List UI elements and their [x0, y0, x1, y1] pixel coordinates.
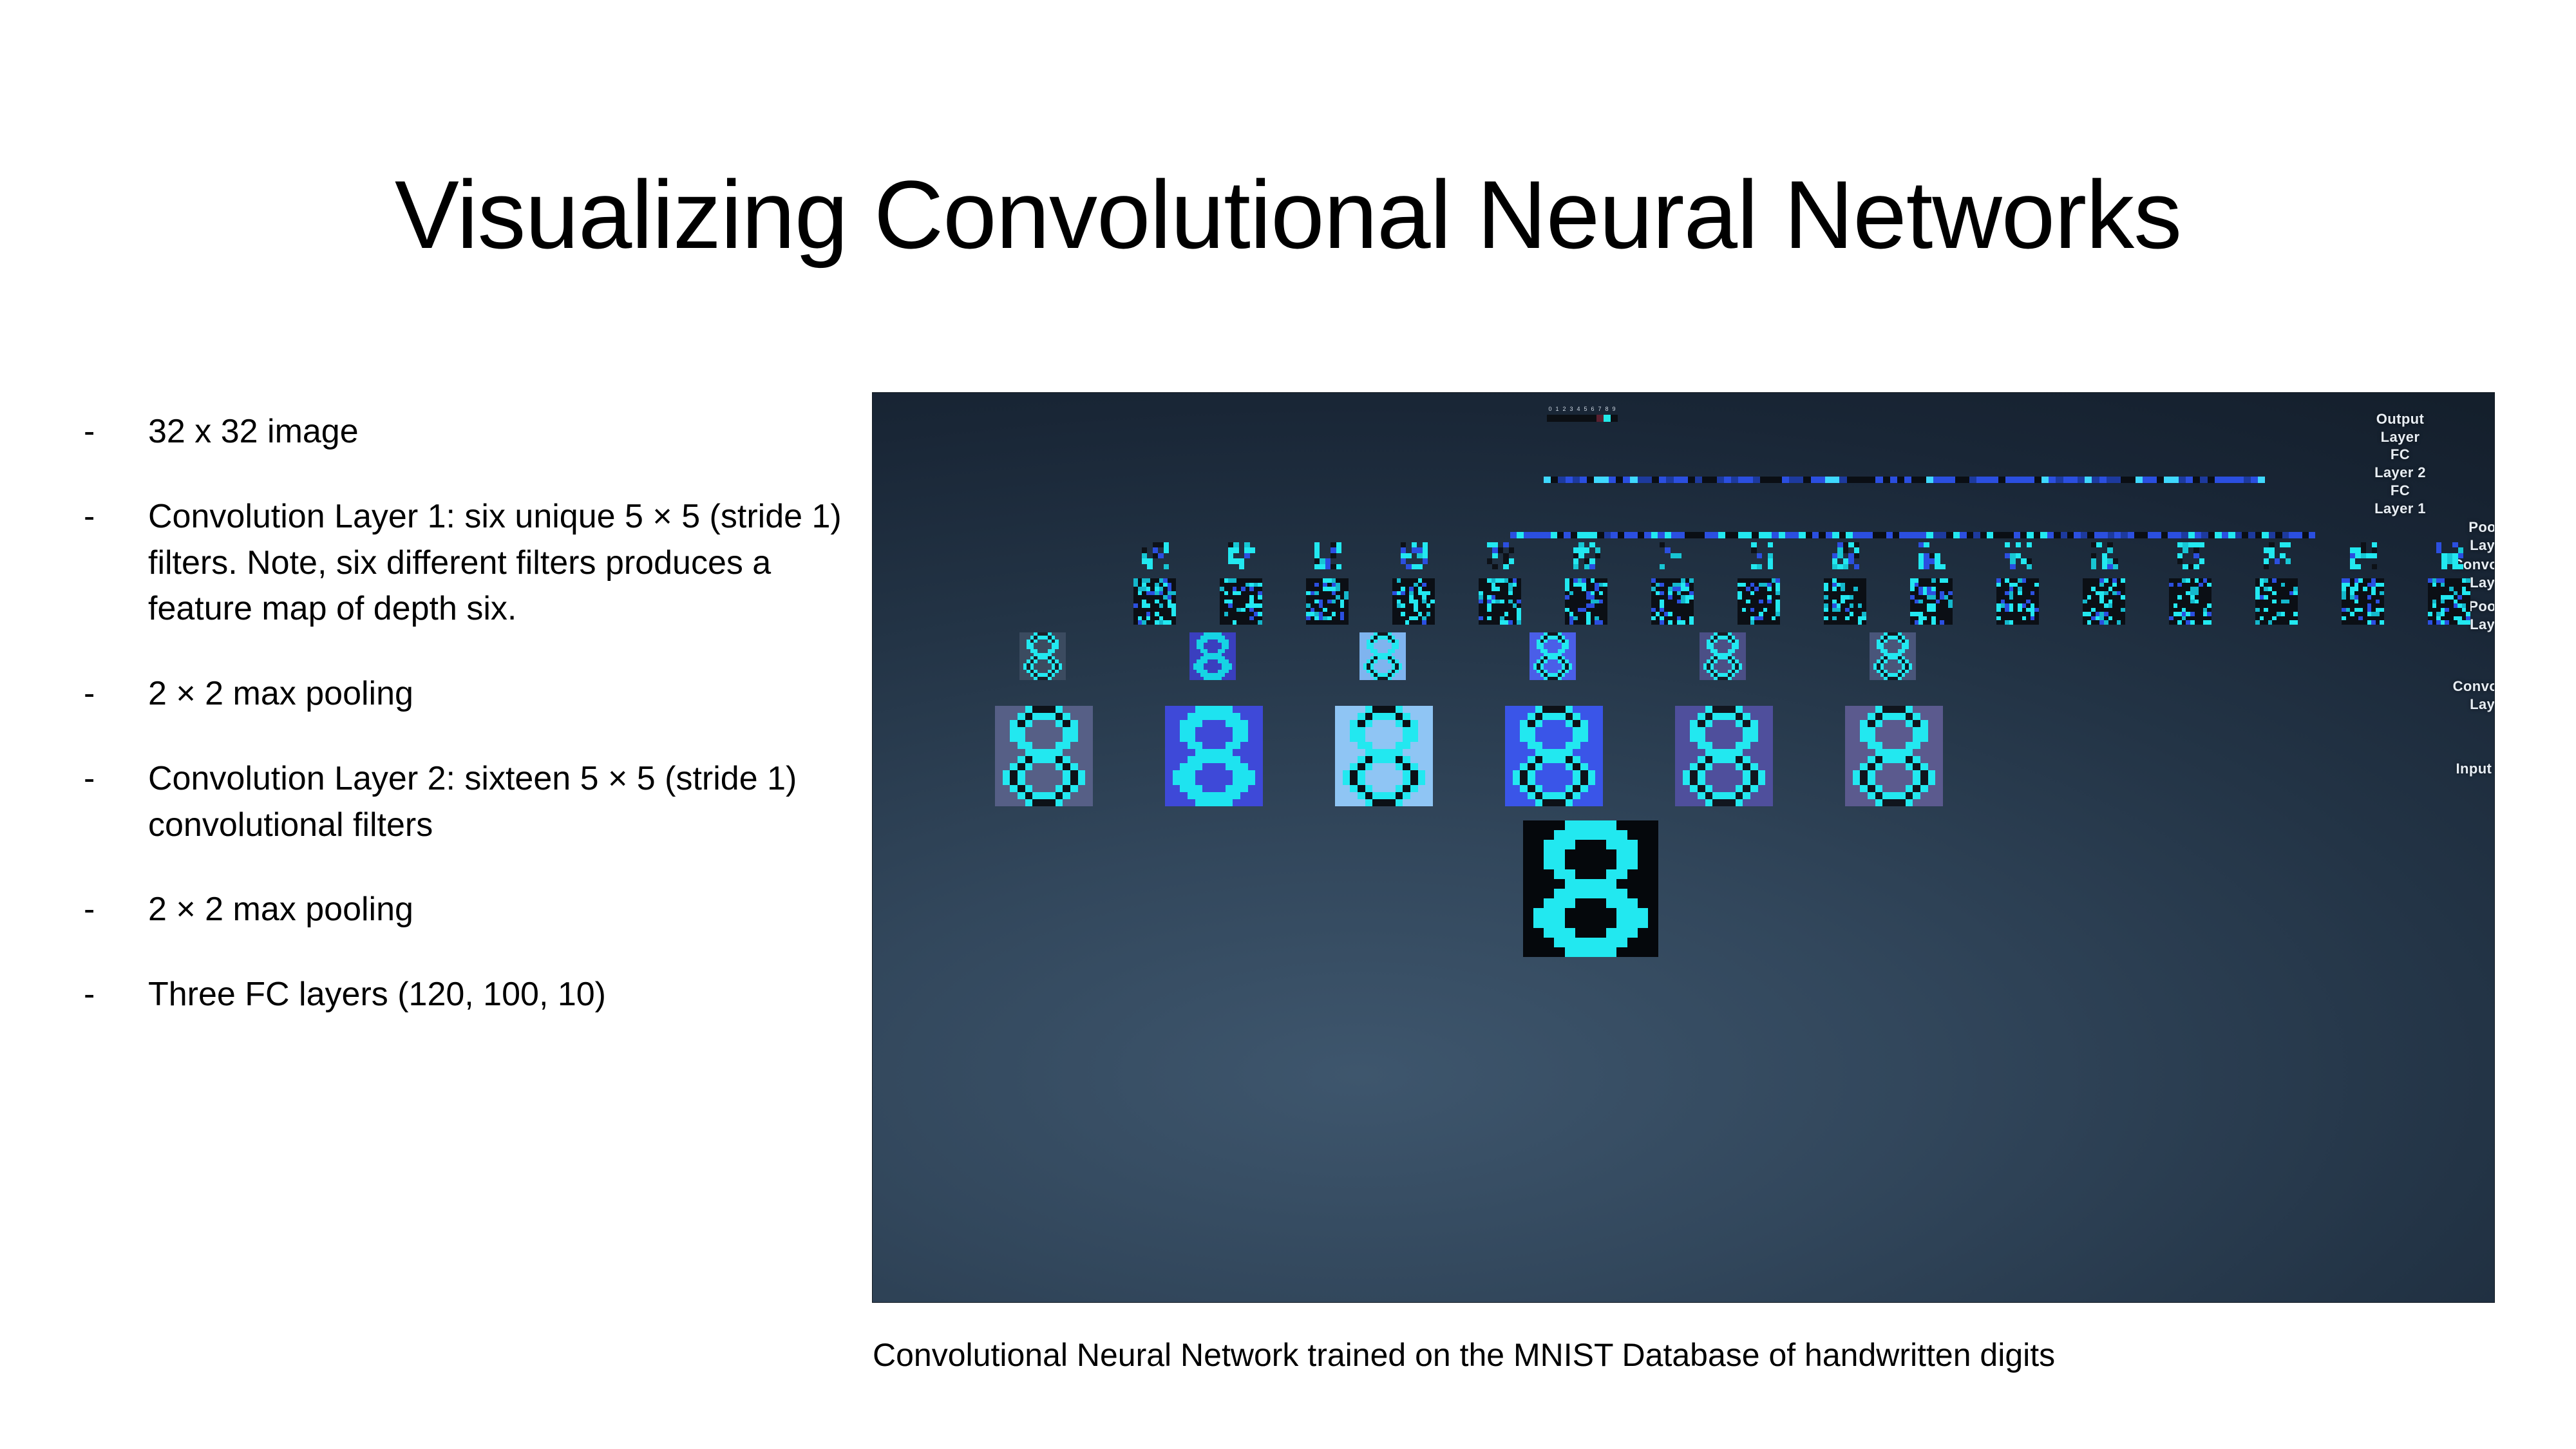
fc-cell	[2141, 532, 2148, 538]
output-cell	[1589, 415, 1596, 422]
convolution-layer-1-map	[1335, 706, 1433, 806]
fc-cell	[2201, 532, 2208, 538]
fc-cell	[2289, 532, 2295, 538]
fc-cell	[1811, 477, 1818, 483]
fc-cell	[2208, 532, 2215, 538]
bullet-text: 32 x 32 image	[148, 409, 844, 455]
layer-label-input-layer: Input Layer	[2444, 760, 2494, 778]
fc-cell	[1980, 532, 1987, 538]
fc-cell	[2302, 532, 2309, 538]
output-cell	[1604, 415, 1611, 422]
fc-cell	[1920, 532, 1926, 538]
pooling-layer-1-map	[1359, 632, 1406, 680]
fc-cell	[1879, 532, 1886, 538]
fc-cell	[1973, 532, 1980, 538]
fc-cell	[1987, 532, 1993, 538]
pooling-layer-2-map	[2005, 542, 2032, 569]
list-item: - Convolution Layer 1: six unique 5 × 5 …	[84, 494, 844, 632]
fc-cell	[2251, 477, 2258, 483]
fc-cell	[1705, 532, 1711, 538]
fc-cell	[1919, 477, 1926, 483]
fc-cell	[1806, 532, 1812, 538]
fc-cell	[1826, 532, 1832, 538]
fc-cell	[1544, 477, 1551, 483]
output-cell	[1611, 415, 1618, 422]
pooling-layer-2-map	[1746, 542, 1773, 569]
output-digit-8: 8	[1604, 406, 1611, 412]
pooling-layer-2-map	[2264, 542, 2291, 569]
fc-cell	[2047, 532, 2054, 538]
fc-cell	[1725, 532, 1732, 538]
fc-cell	[2078, 477, 2085, 483]
fc-cell	[1767, 477, 1774, 483]
fc-cell	[2101, 532, 2107, 538]
pooling-layer-2-map	[1832, 542, 1859, 569]
fc-cell	[2242, 532, 2248, 538]
fc-cell	[2295, 532, 2302, 538]
bullet-marker: -	[84, 671, 148, 717]
fc-cell	[1904, 477, 1911, 483]
fc-cell	[1854, 477, 1861, 483]
fc-cell	[2027, 532, 2033, 538]
layer-label-fc-layer-2: FC Layer 2	[2349, 446, 2452, 482]
fc-cell	[1604, 532, 1611, 538]
fc-cell	[1644, 532, 1651, 538]
fc-cell	[1558, 477, 1565, 483]
output-digit-3: 3	[1568, 406, 1575, 412]
pooling-layer-2-map	[2177, 542, 2204, 569]
list-item: - Convolution Layer 2: sixteen 5 × 5 (st…	[84, 756, 844, 849]
convolution-layer-2-map	[2169, 578, 2211, 625]
fc-cell	[1616, 477, 1623, 483]
convolution-layer-2-map	[1133, 578, 1176, 625]
fc-cell	[1897, 477, 1904, 483]
fc-cell	[1933, 477, 1940, 483]
input-layer-digit-image	[1523, 820, 1658, 957]
fc-cell	[2155, 532, 2161, 538]
fc-cell	[1875, 477, 1882, 483]
fc-cell	[2235, 532, 2242, 538]
fc-cell	[1685, 532, 1691, 538]
fc-cell	[1746, 477, 1753, 483]
fc-cell	[1624, 532, 1631, 538]
fc-cell	[1998, 477, 2005, 483]
fc-cell	[2107, 477, 2114, 483]
fc-cell	[1818, 477, 1825, 483]
fc-cell	[1859, 532, 1866, 538]
fc-cell	[2114, 477, 2121, 483]
fc-cell	[2181, 532, 2188, 538]
fc-cell	[1678, 532, 1685, 538]
fc-cell	[1544, 532, 1550, 538]
fc-cell	[2282, 532, 2289, 538]
fc-cell	[1681, 477, 1688, 483]
fc-cell	[2186, 477, 2193, 483]
fc-cell	[2041, 477, 2049, 483]
pooling-layer-1-map	[1529, 632, 1576, 680]
layer-label-fc-layer-1: FC Layer 1	[2349, 482, 2452, 518]
fc-cell	[1991, 477, 1998, 483]
fc-cell	[2248, 532, 2255, 538]
fc-cell	[1976, 477, 1984, 483]
output-digit-4: 4	[1575, 406, 1582, 412]
pooling-layer-2-map	[1660, 542, 1687, 569]
fc-cell	[2099, 477, 2107, 483]
fc-cell	[2193, 477, 2200, 483]
fc-layer-2-bar	[1544, 477, 2265, 483]
convolution-layer-2-map	[1220, 578, 1262, 625]
output-cell	[1568, 415, 1575, 422]
fc-cell	[1993, 532, 2000, 538]
fc-cell	[2179, 477, 2186, 483]
fc-cell	[2070, 477, 2078, 483]
convolution-layer-2-map	[1996, 578, 2039, 625]
output-cell	[1547, 415, 1554, 422]
fc-cell	[2148, 532, 2154, 538]
fc-cell	[1913, 532, 1919, 538]
fc-cell	[2275, 532, 2282, 538]
pooling-layer-2-map	[1918, 542, 1946, 569]
fc-cell	[1785, 532, 1792, 538]
fc-cell	[1792, 532, 1799, 538]
output-digit-2: 2	[1561, 406, 1568, 412]
fc-cell	[1796, 477, 1803, 483]
fc-cell	[1566, 477, 1573, 483]
bullet-marker: -	[84, 887, 148, 933]
fc-cell	[1765, 532, 1772, 538]
fc-cell	[2195, 532, 2201, 538]
fc-cell	[1940, 532, 1946, 538]
fc-cell	[2000, 532, 2007, 538]
fc-cell	[1571, 532, 1577, 538]
pooling-layer-1-map	[1700, 632, 1746, 680]
fc-cell	[1839, 532, 1846, 538]
fc-cell	[1698, 532, 1705, 538]
fc-cell	[1911, 477, 1918, 483]
bullet-text: Convolution Layer 2: sixteen 5 × 5 (stri…	[148, 756, 844, 849]
bullet-marker: -	[84, 972, 148, 1018]
fc-cell	[2244, 477, 2251, 483]
output-digit-5: 5	[1582, 406, 1589, 412]
fc-cell	[1866, 532, 1872, 538]
fc-cell	[2094, 532, 2101, 538]
fc-cell	[1665, 532, 1671, 538]
output-cell	[1561, 415, 1568, 422]
fc-cell	[1955, 477, 1962, 483]
convolution-layer-1-map	[995, 706, 1093, 806]
fc-cell	[1789, 477, 1796, 483]
fc-cell	[2128, 532, 2134, 538]
output-digit-6: 6	[1589, 406, 1596, 412]
convolution-layer-1-map	[1505, 706, 1603, 806]
fc-cell	[1597, 532, 1604, 538]
bullet-text: 2 × 2 max pooling	[148, 671, 844, 717]
fc-cell	[1953, 532, 1960, 538]
fc-cell	[2150, 477, 2157, 483]
fc-cell	[1659, 477, 1666, 483]
pooling-layer-1-map	[1019, 632, 1066, 680]
bullet-text: 2 × 2 max pooling	[148, 887, 844, 933]
fc-cell	[1631, 532, 1638, 538]
fc-cell	[2020, 532, 2027, 538]
fc-cell	[1611, 532, 1617, 538]
list-item: - 2 × 2 max pooling	[84, 671, 844, 717]
fc-cell	[1947, 477, 1955, 483]
fc-cell	[1524, 532, 1530, 538]
fc-cell	[1652, 477, 1659, 483]
fc-cell	[2121, 532, 2127, 538]
fc-cell	[2168, 532, 2174, 538]
fc-cell	[2188, 532, 2195, 538]
convolution-layer-1-map	[1675, 706, 1773, 806]
fc-cell	[1609, 477, 1616, 483]
fc-cell	[1782, 477, 1789, 483]
fc-cell	[2005, 477, 2012, 483]
convolution-layer-1-map	[1165, 706, 1263, 806]
fc-cell	[2081, 532, 2087, 538]
fc-cell	[1832, 477, 1839, 483]
fc-cell	[1745, 532, 1752, 538]
fc-cell	[1564, 532, 1570, 538]
fc-cell	[1752, 532, 1758, 538]
fc-cell	[1645, 477, 1652, 483]
fc-cell	[1551, 532, 1557, 538]
list-item: - 2 × 2 max pooling	[84, 887, 844, 933]
fc-cell	[1803, 477, 1810, 483]
fc-cell	[1651, 532, 1658, 538]
fc-cell	[1623, 477, 1630, 483]
fc-cell	[1846, 532, 1852, 538]
convolution-layer-2-map	[1392, 578, 1435, 625]
convolution-layer-2-map	[1565, 578, 1607, 625]
figure-caption: Convolutional Neural Network trained on …	[873, 1336, 2521, 1374]
fc-cell	[2014, 532, 2020, 538]
fc-cell	[1825, 477, 1832, 483]
fc-cell	[1899, 532, 1906, 538]
fc-cell	[1584, 532, 1591, 538]
fc-cell	[1738, 532, 1745, 538]
fc-cell	[1946, 532, 1953, 538]
fc-cell	[2157, 477, 2164, 483]
fc-cell	[1557, 532, 1564, 538]
fc-cell	[2222, 477, 2229, 483]
fc-cell	[1760, 477, 1767, 483]
output-cell	[1596, 415, 1604, 422]
convolution-layer-2-map	[2255, 578, 2298, 625]
fc-cell	[2208, 477, 2215, 483]
convolution-layer-2-map	[1479, 578, 1521, 625]
pooling-layer-2-map	[1142, 542, 1169, 569]
fc-cell	[2061, 532, 2067, 538]
output-cell	[1575, 415, 1582, 422]
bullet-marker: -	[84, 494, 148, 540]
bullet-marker: -	[84, 756, 148, 802]
fc-cell	[1853, 532, 1859, 538]
fc-cell	[1873, 532, 1879, 538]
fc-cell	[2136, 477, 2143, 483]
fc-cell	[1602, 477, 1609, 483]
fc-cell	[2085, 477, 2092, 483]
pooling-layer-2-map	[1228, 542, 1255, 569]
fc-cell	[1530, 532, 1537, 538]
fc-cell	[1591, 532, 1597, 538]
fc-cell	[1759, 532, 1765, 538]
convolution-layer-2-map	[1910, 578, 1953, 625]
fc-cell	[2172, 477, 2179, 483]
fc-cell	[1967, 532, 1973, 538]
fc-cell	[1718, 532, 1725, 538]
convolution-layer-2-map	[2083, 578, 2125, 625]
output-digit-1: 1	[1554, 406, 1561, 412]
fc-cell	[1710, 477, 1717, 483]
fc-cell	[2074, 532, 2080, 538]
fc-cell	[1695, 477, 1702, 483]
fc-cell	[1580, 477, 1587, 483]
fc-cell	[2143, 477, 2150, 483]
bullet-text: Three FC layers (120, 100, 10)	[148, 972, 844, 1018]
fc-cell	[2012, 477, 2020, 483]
pooling-layer-2-map	[2091, 542, 2118, 569]
fc-cell	[1537, 532, 1544, 538]
fc-cell	[1926, 532, 1933, 538]
fc-cell	[2309, 532, 2315, 538]
fc-cell	[1883, 477, 1890, 483]
convolution-layer-2-map	[1824, 578, 1866, 625]
fc-cell	[2034, 532, 2040, 538]
fc-cell	[1772, 532, 1778, 538]
fc-cell	[2215, 532, 2221, 538]
convolution-layer-2-map	[2428, 578, 2470, 625]
fc-cell	[1839, 477, 1846, 483]
fc-cell	[1691, 532, 1698, 538]
fc-cell	[1688, 477, 1695, 483]
convolution-layer-2-map	[2342, 578, 2384, 625]
pooling-layer-2-map	[1487, 542, 1514, 569]
fc-cell	[1717, 477, 1724, 483]
fc-cell	[2108, 532, 2114, 538]
fc-cell	[1969, 477, 1976, 483]
fc-cell	[1799, 532, 1805, 538]
fc-cell	[2056, 477, 2063, 483]
fc-cell	[1658, 532, 1664, 538]
fc-cell	[2063, 477, 2070, 483]
fc-cell	[2161, 532, 2168, 538]
fc-cell	[1577, 532, 1584, 538]
fc-cell	[1638, 477, 1645, 483]
fc-cell	[2092, 477, 2099, 483]
fc-cell	[2229, 477, 2236, 483]
fc-cell	[1868, 477, 1875, 483]
fc-cell	[2049, 477, 2056, 483]
fc-cell	[1906, 532, 1913, 538]
bullet-list: - 32 x 32 image - Convolution Layer 1: s…	[84, 409, 844, 1057]
fc-cell	[2020, 477, 2027, 483]
bullet-text: Convolution Layer 1: six unique 5 × 5 (s…	[148, 494, 844, 632]
fc-cell	[1587, 477, 1594, 483]
fc-cell	[1738, 477, 1745, 483]
fc-cell	[1962, 477, 1969, 483]
pooling-layer-2-map	[1314, 542, 1341, 569]
pooling-layer-2-map	[2436, 542, 2463, 569]
fc-cell	[1630, 477, 1637, 483]
pooling-layer-2-map	[1573, 542, 1600, 569]
fc-cell	[1702, 477, 1709, 483]
fc-cell	[1933, 532, 1940, 538]
fc-cell	[1960, 532, 1966, 538]
page-title: Visualizing Convolutional Neural Network…	[0, 164, 2576, 266]
fc-cell	[1886, 532, 1893, 538]
fc-cell	[2237, 477, 2244, 483]
fc-cell	[1812, 532, 1819, 538]
pooling-layer-2-map	[2350, 542, 2377, 569]
fc-layer-1-bar	[1510, 532, 2315, 538]
fc-cell	[2222, 532, 2228, 538]
fc-cell	[2269, 532, 2275, 538]
fc-cell	[1984, 477, 1991, 483]
fc-cell	[1926, 477, 1933, 483]
fc-cell	[2215, 477, 2222, 483]
fc-cell	[1890, 477, 1897, 483]
fc-cell	[2054, 532, 2060, 538]
output-layer-activation-bar	[1547, 415, 1618, 422]
bullet-marker: -	[84, 409, 148, 455]
fc-cell	[2228, 532, 2235, 538]
output-cell	[1554, 415, 1561, 422]
fc-cell	[1779, 532, 1785, 538]
fc-cell	[2255, 532, 2262, 538]
layer-label-output-layer: Output Layer	[2349, 410, 2452, 446]
fc-cell	[1712, 532, 1718, 538]
fc-cell	[1510, 532, 1517, 538]
list-item: - 32 x 32 image	[84, 409, 844, 455]
convolution-layer-1-map	[1845, 706, 1943, 806]
fc-cell	[1551, 477, 1558, 483]
fc-cell	[1517, 532, 1523, 538]
fc-cell	[2114, 532, 2121, 538]
fc-cell	[2128, 477, 2135, 483]
fc-cell	[2164, 477, 2171, 483]
fc-cell	[1940, 477, 1947, 483]
fc-cell	[1847, 477, 1854, 483]
convolution-layer-2-map	[1306, 578, 1349, 625]
pooling-layer-1-map	[1870, 632, 1916, 680]
fc-cell	[1666, 477, 1673, 483]
fc-cell	[1724, 477, 1731, 483]
fc-cell	[1671, 532, 1678, 538]
fc-cell	[2067, 532, 2074, 538]
output-digit-0: 0	[1547, 406, 1554, 412]
fc-cell	[2007, 532, 2013, 538]
fc-cell	[2262, 532, 2268, 538]
list-item: - Three FC layers (120, 100, 10)	[84, 972, 844, 1018]
cnn-visualization-panel: 0123456789 Output LayerFC Layer 2FC Laye…	[873, 393, 2494, 1302]
output-digit-9: 9	[1611, 406, 1618, 412]
fc-cell	[1893, 532, 1899, 538]
fc-cell	[2040, 532, 2047, 538]
fc-cell	[1638, 532, 1644, 538]
fc-cell	[1594, 477, 1601, 483]
fc-cell	[1819, 532, 1825, 538]
output-cell	[1582, 415, 1589, 422]
layer-label-convolution-layer-1: Convolution Layer 1	[2444, 677, 2494, 714]
fc-cell	[1731, 477, 1738, 483]
fc-cell	[1573, 477, 1580, 483]
fc-cell	[2258, 477, 2265, 483]
fc-cell	[2027, 477, 2034, 483]
fc-cell	[1753, 477, 1760, 483]
pooling-layer-2-map	[1401, 542, 1428, 569]
fc-cell	[2175, 532, 2181, 538]
